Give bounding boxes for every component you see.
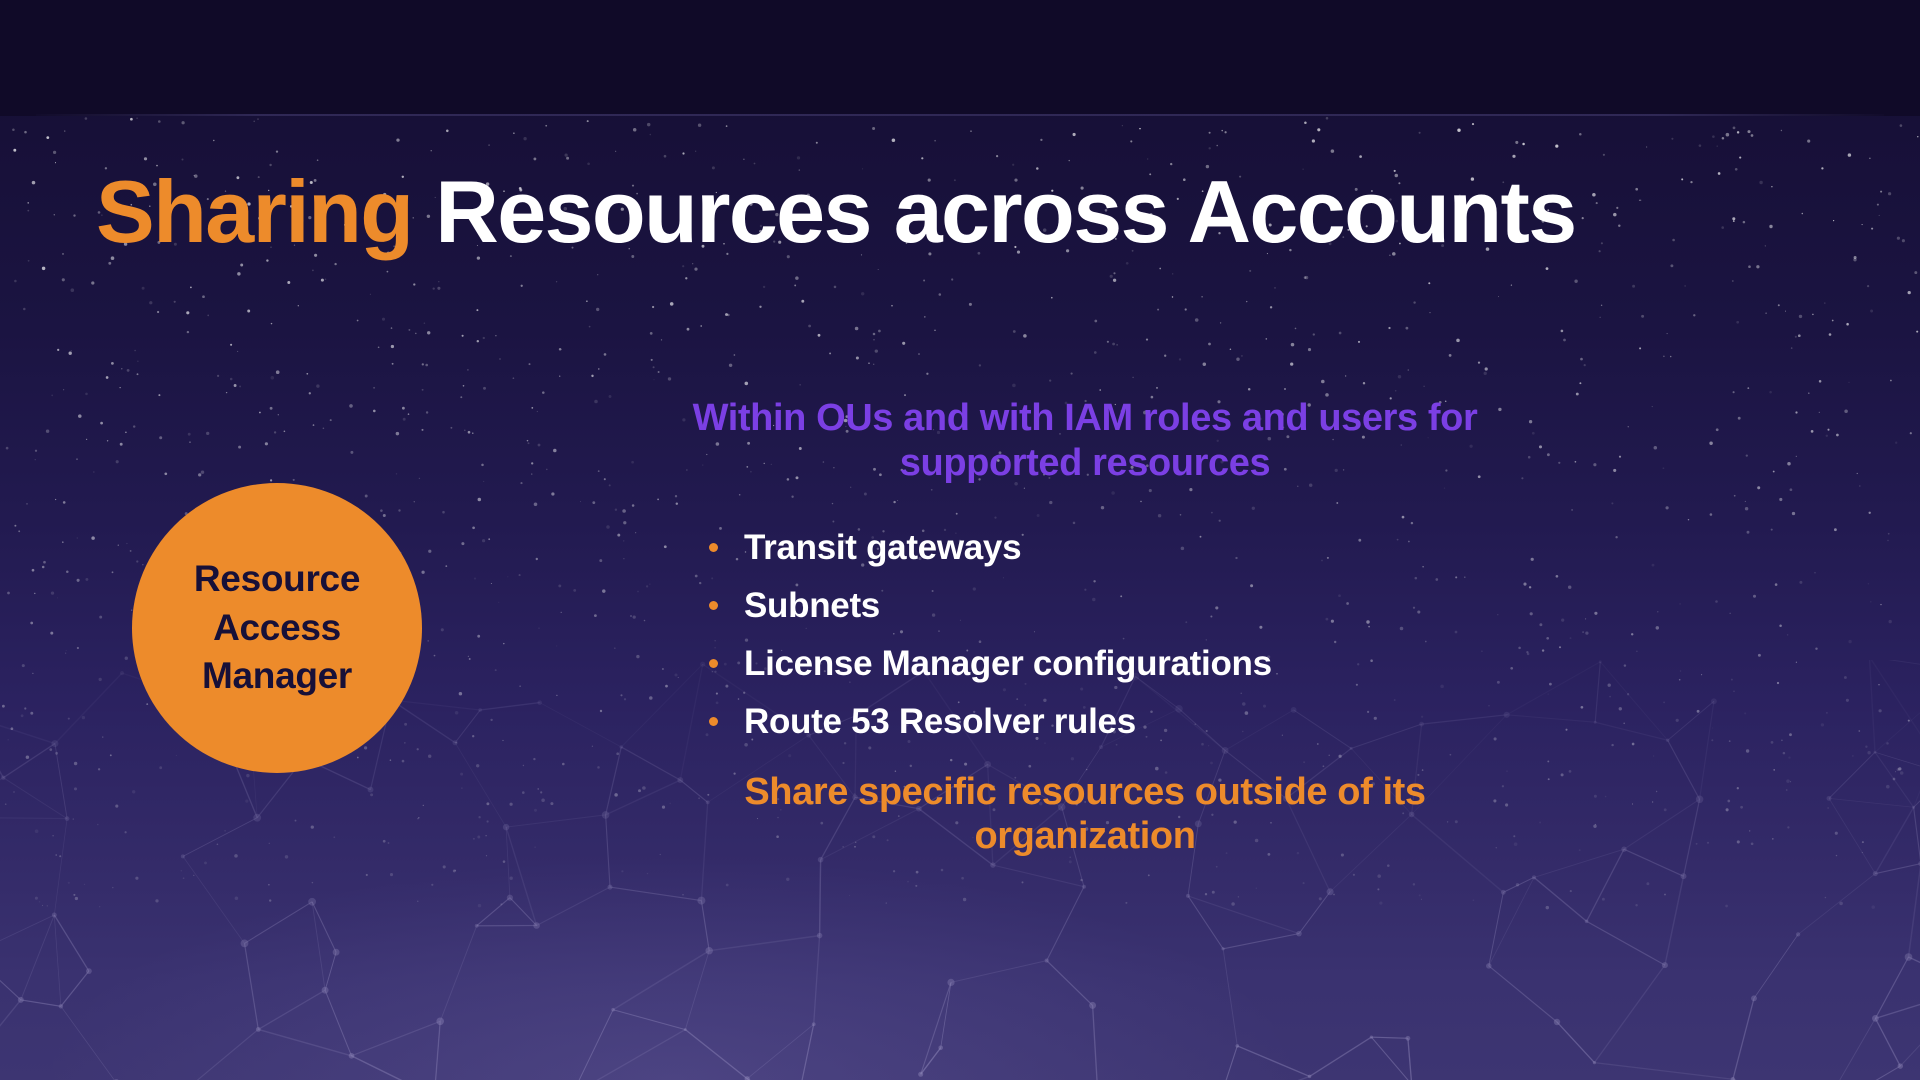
content-column: Within OUs and with IAM roles and users … (690, 396, 1840, 859)
footnote-text: Share specific resources outside of its … (690, 770, 1480, 860)
resource-access-manager-badge: Resource Access Manager (132, 483, 422, 773)
page-title-rest: Resources across Accounts (412, 162, 1575, 261)
bullet-dot-icon (709, 717, 718, 726)
page-title-accent: Sharing (96, 162, 412, 261)
list-item-label: Route 53 Resolver rules (744, 704, 1136, 739)
list-item-label: Transit gateways (744, 530, 1021, 565)
bullet-dot-icon (709, 659, 718, 668)
bullet-dot-icon (709, 543, 718, 552)
list-item-label: Subnets (744, 588, 880, 623)
list-item: License Manager configurations (690, 646, 1840, 681)
badge-line-3: Manager (202, 652, 352, 701)
slide-canvas: INTRODUCTION TO AWS SECURITY Sharing Res… (0, 0, 1920, 1080)
bullet-dot-icon (709, 601, 718, 610)
slide-header (0, 0, 1920, 116)
page-title: Sharing Resources across Accounts (96, 168, 1576, 256)
list-item: Subnets (690, 588, 1840, 623)
feature-list: Transit gateways Subnets License Manager… (690, 530, 1840, 739)
list-item-label: License Manager configurations (744, 646, 1272, 681)
badge-line-1: Resource (194, 555, 360, 604)
subtitle-text: Within OUs and with IAM roles and users … (690, 396, 1480, 486)
list-item: Transit gateways (690, 530, 1840, 565)
header-divider (36, 114, 1884, 116)
list-item: Route 53 Resolver rules (690, 704, 1840, 739)
badge-line-2: Access (213, 604, 341, 653)
